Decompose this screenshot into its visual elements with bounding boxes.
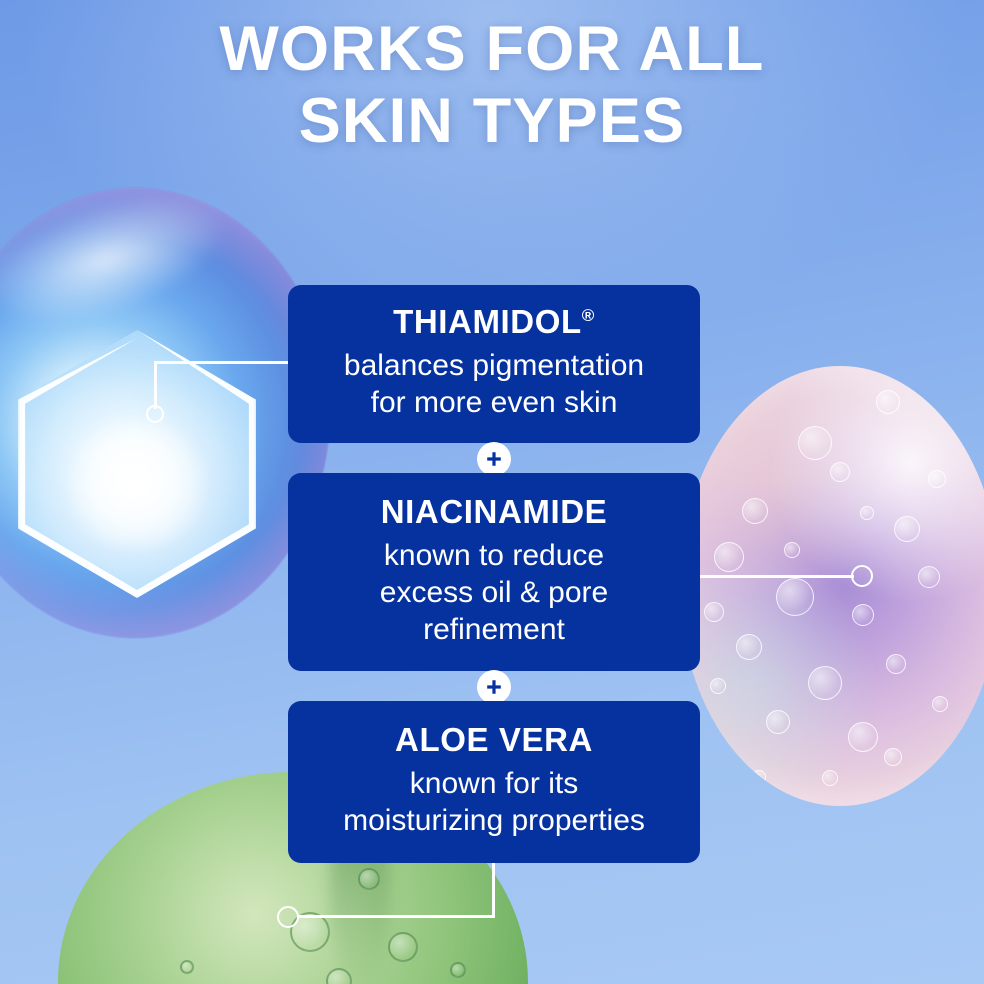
card-body-thiamidol: balances pigmentation for more even skin bbox=[308, 347, 680, 421]
ingredient-card-aloevera[interactable]: ALOE VERA known for its moisturizing pro… bbox=[288, 701, 700, 863]
bubble-icon bbox=[766, 710, 790, 734]
bubble-icon bbox=[388, 932, 418, 962]
bubble-icon bbox=[704, 602, 724, 622]
bubble-icon bbox=[894, 516, 920, 542]
card-body-aloevera: known for its moisturizing properties bbox=[308, 765, 680, 839]
bubble-icon bbox=[326, 968, 352, 984]
infographic-canvas: WORKS FOR ALL SKIN TYPES THIAMIDOL® bala… bbox=[0, 0, 984, 984]
card-body-line: for more even skin bbox=[308, 384, 680, 421]
card-body-line: known to reduce bbox=[308, 537, 680, 574]
bubble-icon bbox=[830, 462, 850, 482]
bubble-icon bbox=[852, 604, 874, 626]
bubble-icon bbox=[358, 868, 380, 890]
bubble-icon bbox=[860, 506, 874, 520]
card-body-line: balances pigmentation bbox=[308, 347, 680, 384]
plus-icon bbox=[484, 677, 504, 697]
bubble-icon bbox=[928, 470, 946, 488]
bubble-icon bbox=[714, 542, 744, 572]
thiamidol-connector-endpoint bbox=[146, 405, 164, 423]
ingredient-card-thiamidol[interactable]: THIAMIDOL® balances pigmentation for mor… bbox=[288, 285, 700, 443]
ingredient-card-niacinamide[interactable]: NIACINAMIDE known to reduce excess oil &… bbox=[288, 473, 700, 671]
bubble-icon bbox=[180, 960, 194, 974]
bubble-icon bbox=[710, 678, 726, 694]
bubble-icon bbox=[918, 566, 940, 588]
card-title-thiamidol: THIAMIDOL® bbox=[308, 304, 680, 341]
bubble-icon bbox=[776, 578, 814, 616]
thiamidol-connector-vertical bbox=[154, 361, 157, 409]
card-title-niacinamide: NIACINAMIDE bbox=[308, 494, 680, 531]
bubble-icon bbox=[784, 542, 800, 558]
plus-badge-icon bbox=[477, 442, 511, 476]
headline-line-1: WORKS FOR ALL bbox=[0, 14, 984, 86]
bubble-icon bbox=[822, 770, 838, 786]
niacinamide-connector-endpoint bbox=[851, 565, 873, 587]
bubble-icon bbox=[932, 696, 948, 712]
bubble-icon bbox=[450, 962, 466, 978]
bubble-icon bbox=[884, 748, 902, 766]
plus-badge-icon bbox=[477, 670, 511, 704]
bubble-icon bbox=[742, 498, 768, 524]
niacinamide-connector-horizontal bbox=[698, 575, 854, 578]
bubble-icon bbox=[886, 654, 906, 674]
aloevera-connector-endpoint bbox=[277, 906, 299, 928]
bubble-icon bbox=[752, 770, 766, 784]
registered-trademark-icon: ® bbox=[582, 306, 595, 325]
card-body-line: refinement bbox=[308, 611, 680, 648]
pink-gel-orb-bubbles bbox=[680, 366, 984, 806]
aloevera-connector-horizontal bbox=[297, 915, 495, 918]
aloevera-connector-vertical bbox=[492, 861, 495, 918]
card-body-niacinamide: known to reduce excess oil & pore refine… bbox=[308, 537, 680, 649]
page-title: WORKS FOR ALL SKIN TYPES bbox=[0, 14, 984, 158]
card-title-text: THIAMIDOL bbox=[393, 303, 582, 340]
headline-line-2: SKIN TYPES bbox=[0, 86, 984, 158]
card-body-line: moisturizing properties bbox=[308, 802, 680, 839]
plus-icon bbox=[484, 449, 504, 469]
bubble-icon bbox=[736, 634, 762, 660]
blue-crystal-orb-core-glow bbox=[62, 420, 212, 550]
card-title-aloevera: ALOE VERA bbox=[308, 722, 680, 759]
bubble-icon bbox=[798, 426, 832, 460]
bubble-icon bbox=[848, 722, 878, 752]
card-title-text: NIACINAMIDE bbox=[381, 493, 608, 530]
bubble-icon bbox=[808, 666, 842, 700]
card-body-line: excess oil & pore bbox=[308, 574, 680, 611]
thiamidol-connector-horizontal bbox=[155, 361, 290, 364]
card-body-line: known for its bbox=[308, 765, 680, 802]
bubble-icon bbox=[876, 390, 900, 414]
card-title-text: ALOE VERA bbox=[395, 721, 593, 758]
